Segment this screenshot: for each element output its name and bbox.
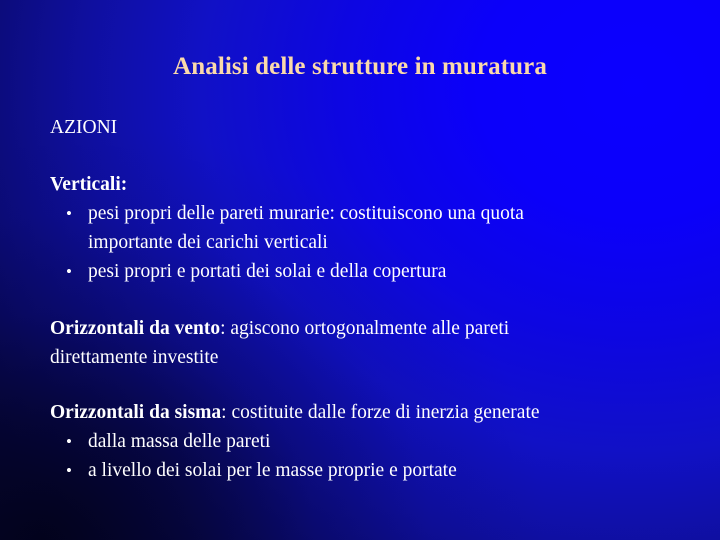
heading-orizzontali-sisma-rest: : costituite dalle forze di inerzia gene… xyxy=(221,402,539,423)
list-item-text: dalla massa delle pareti xyxy=(88,427,270,456)
heading-orizzontali-sisma-lead: Orizzontali da sisma xyxy=(50,402,221,423)
heading-orizzontali-sisma: Orizzontali da sisma: costituite dalle f… xyxy=(50,398,540,427)
bullet-dot-icon: • xyxy=(66,456,88,485)
list-item-line1: dalla massa delle pareti xyxy=(88,431,270,452)
slide-title: Analisi delle strutture in muratura xyxy=(0,51,720,83)
list-item: • a livello dei solai per le masse propr… xyxy=(50,456,457,485)
list-item: • dalla massa delle pareti xyxy=(50,427,270,456)
heading-verticali: Verticali: xyxy=(50,170,127,199)
slide-content: Analisi delle strutture in muratura AZIO… xyxy=(0,0,720,540)
list-item-text: a livello dei solai per le masse proprie… xyxy=(88,456,457,485)
list-item-line1: a livello dei solai per le masse proprie… xyxy=(88,460,457,481)
list-item-text: pesi propri delle pareti murarie: costit… xyxy=(88,199,524,257)
heading-orizzontali-vento-rest: : agiscono ortogonalmente alle pareti xyxy=(220,318,509,339)
list-item-line1: pesi propri delle pareti murarie: costit… xyxy=(88,203,524,224)
bullet-dot-icon: • xyxy=(66,199,88,228)
presentation-slide: Analisi delle strutture in muratura AZIO… xyxy=(0,0,720,540)
heading-orizzontali-vento-line2: direttamente investite xyxy=(50,343,218,372)
bullet-dot-icon: • xyxy=(66,427,88,456)
section-label-azioni: AZIONI xyxy=(50,113,117,142)
heading-orizzontali-vento: Orizzontali da vento: agiscono ortogonal… xyxy=(50,314,509,343)
list-item: • pesi propri delle pareti murarie: cost… xyxy=(50,199,524,257)
list-item-line1: pesi propri e portati dei solai e della … xyxy=(88,261,446,282)
heading-orizzontali-vento-lead: Orizzontali da vento xyxy=(50,318,220,339)
list-item: • pesi propri e portati dei solai e dell… xyxy=(50,257,446,286)
list-item-line2: importante dei carichi verticali xyxy=(88,228,524,257)
list-item-text: pesi propri e portati dei solai e della … xyxy=(88,257,446,286)
bullet-dot-icon: • xyxy=(66,257,88,286)
